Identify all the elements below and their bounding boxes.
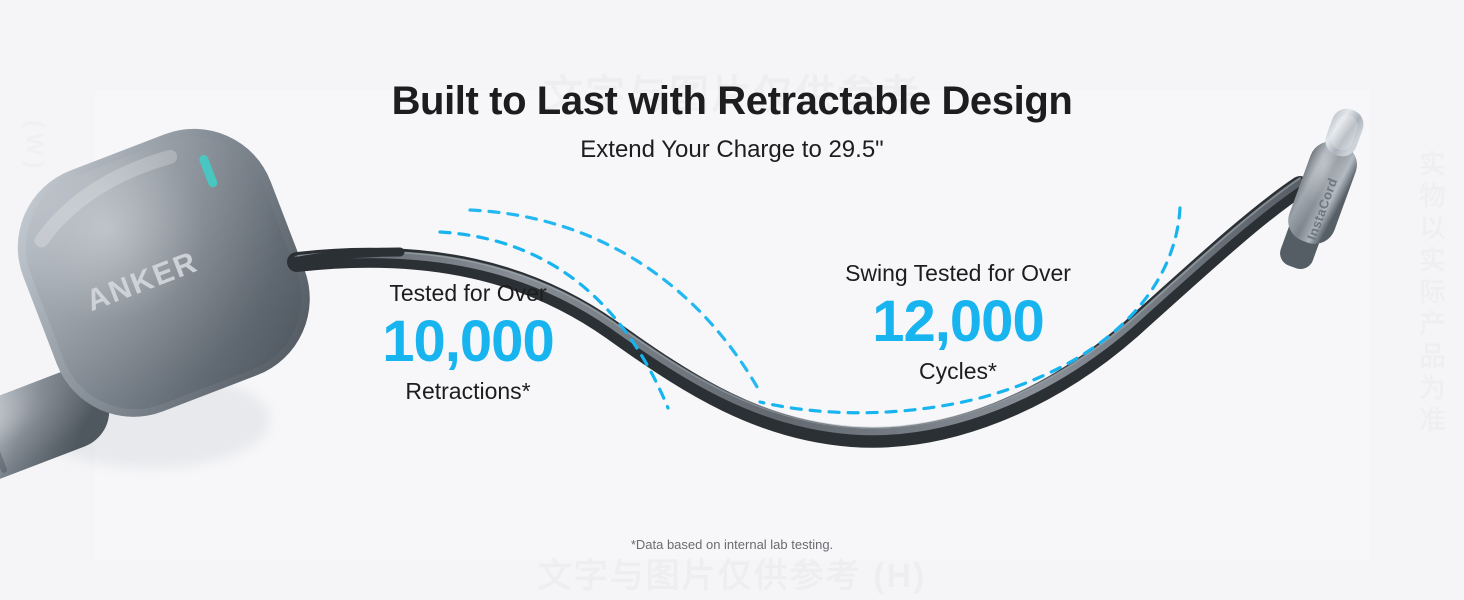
stat-block-retractions: Tested for Over 10,000 Retractions* [343,280,593,404]
stat-top-label: Swing Tested for Over [833,260,1083,286]
stat-value: 10,000 [343,308,593,376]
product-feature-banner: 文字与图片仅供参考 文字与图片仅供参考 (H) 实物以实际产品为准 (W) [0,0,1464,600]
stat-block-swing-cycles: Swing Tested for Over 12,000 Cycles* [833,260,1083,384]
stat-top-label: Tested for Over [343,280,593,306]
page-title: Built to Last with Retractable Design [0,79,1464,124]
stat-bottom-label: Retractions* [343,378,593,404]
page-subtitle: Extend Your Charge to 29.5" [0,136,1464,164]
stat-bottom-label: Cycles* [833,358,1083,384]
footnote-disclaimer: *Data based on internal lab testing. [0,537,1464,552]
stat-value: 12,000 [833,288,1083,356]
